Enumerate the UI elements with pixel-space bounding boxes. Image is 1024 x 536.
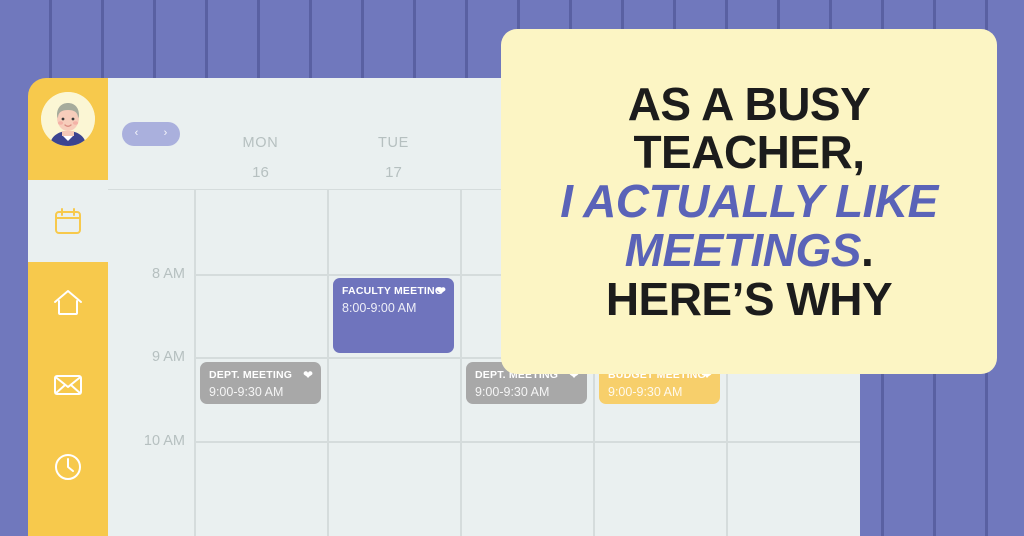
event-time: 9:00-9:30 AM: [209, 385, 312, 399]
headline-line-5: HERE’S WHY: [606, 275, 892, 324]
headline-line-4: MEETINGS.: [625, 226, 874, 275]
grid-column-line: [194, 190, 196, 536]
event-title: FACULTY MEETING: [342, 286, 445, 298]
time-label: 9 AM: [152, 349, 185, 365]
time-label: 10 AM: [144, 433, 185, 449]
heart-icon[interactable]: ❤: [303, 369, 313, 381]
grid-row-line: [194, 441, 860, 443]
sidebar-item-home[interactable]: [28, 262, 108, 344]
avatar[interactable]: [41, 92, 95, 146]
headline-line-4-punct: .: [861, 224, 873, 276]
event-block[interactable]: DEPT. MEETING 9:00-9:30 AM ❤: [200, 362, 321, 404]
event-time: 9:00-9:30 AM: [608, 385, 711, 399]
sidebar: [28, 78, 108, 536]
heart-icon[interactable]: ❤: [436, 285, 446, 297]
event-time: 8:00-9:00 AM: [342, 301, 445, 315]
grid-column-line: [327, 190, 329, 536]
headline-card: AS A BUSY TEACHER, I ACTUALLY LIKE MEETI…: [501, 29, 997, 374]
time-label: 8 AM: [152, 266, 185, 282]
grid-column-line: [460, 190, 462, 536]
time-gutter: 8 AM 9 AM 10 AM: [108, 190, 194, 536]
headline-line-2: TEACHER,: [633, 128, 864, 177]
day-header-dow: TUE: [378, 135, 409, 151]
home-icon: [51, 286, 85, 320]
date-nav-pill[interactable]: ‹ ›: [122, 122, 180, 146]
sidebar-item-clock[interactable]: [28, 426, 108, 508]
day-header-tue[interactable]: TUE 17: [327, 78, 460, 189]
calendar-icon: [52, 205, 84, 237]
sidebar-nav: [28, 78, 108, 508]
mail-icon: [51, 368, 85, 402]
event-block[interactable]: FACULTY MEETING 8:00-9:00 AM ❤: [333, 278, 454, 353]
next-week-button[interactable]: ›: [164, 128, 168, 139]
time-gutter-header: ‹ ›: [108, 78, 194, 189]
clock-icon: [51, 450, 85, 484]
day-header-date: 17: [385, 164, 402, 181]
sidebar-item-mail[interactable]: [28, 344, 108, 426]
prev-week-button[interactable]: ‹: [135, 128, 139, 139]
headline-line-4-text: MEETINGS: [625, 224, 861, 276]
day-header-date: 16: [252, 164, 269, 181]
event-time: 9:00-9:30 AM: [475, 385, 578, 399]
day-header-mon[interactable]: MON 16: [194, 78, 327, 189]
avatar-illustration: [41, 92, 95, 146]
sidebar-item-calendar[interactable]: [28, 180, 108, 262]
headline-line-1: AS A BUSY: [628, 80, 871, 129]
day-header-dow: MON: [243, 135, 279, 151]
event-title: DEPT. MEETING: [209, 370, 312, 382]
headline-line-3: I ACTUALLY LIKE: [560, 177, 938, 226]
